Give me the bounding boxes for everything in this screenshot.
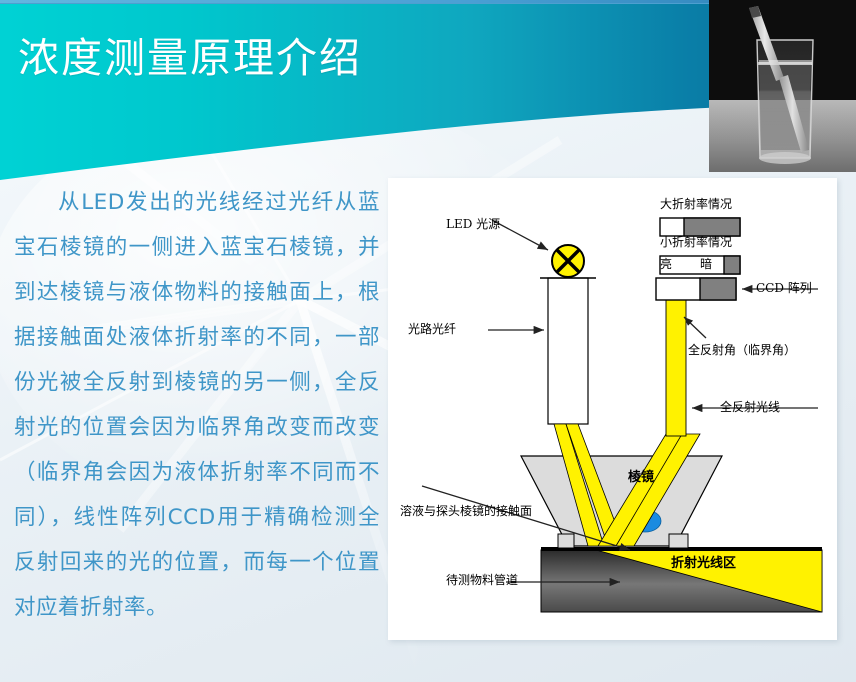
label-total-reflection-angle: 全反射角（临界角）: [688, 344, 796, 356]
slide-canvas: 浓度测量原理介绍: [0, 0, 856, 682]
label-ccd-array: CCD 阵列: [756, 282, 812, 294]
refraction-photo: [709, 0, 856, 172]
label-bright: 亮: [660, 258, 672, 270]
label-total-reflection-ray: 全反射光线: [720, 401, 780, 413]
label-refracted-zone: 折射光线区: [671, 557, 736, 570]
label-high-index-case: 大折射率情况: [660, 198, 732, 210]
label-dark: 暗: [700, 258, 712, 270]
page-title: 浓度测量原理介绍: [18, 24, 362, 84]
label-optical-fiber: 光路光纤: [408, 323, 456, 335]
label-low-index-case: 小折射率情况: [660, 236, 732, 248]
principle-diagram: LED 光源 光路光纤 棱镜 溶液与探头棱镜的接触面 待测物料管道 折射光线区 …: [388, 178, 837, 640]
label-prism: 棱镜: [628, 471, 654, 484]
label-contact-surface: 溶液与探头棱镜的接触面: [400, 505, 532, 517]
label-led-source: LED 光源: [446, 218, 500, 230]
body-paragraph: 从LED发出的光线经过光纤从蓝宝石棱镜的一侧进入蓝宝石棱镜，并到达棱镜与液体物料…: [14, 180, 380, 630]
label-material-pipe: 待测物料管道: [446, 574, 518, 586]
